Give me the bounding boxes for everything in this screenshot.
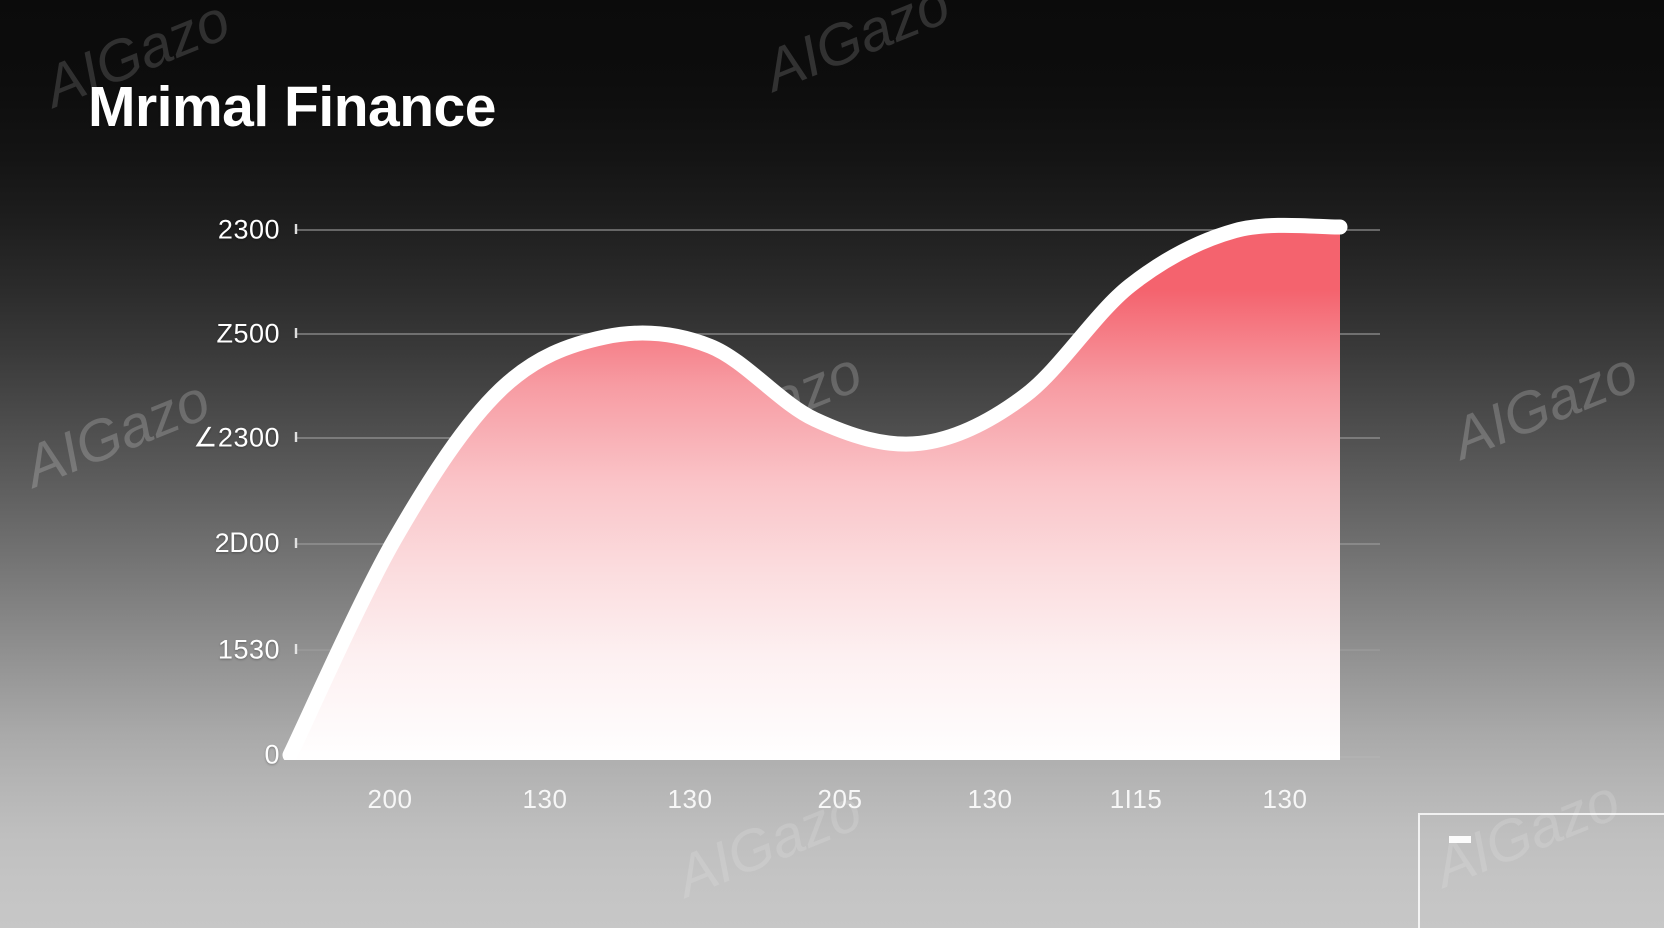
legend-box[interactable] (1418, 813, 1664, 928)
chart-screenshot: AIGazoAIGazoAIGazoAIGazo (0, 0, 1664, 928)
dash-marker-icon (1449, 836, 1471, 843)
area-chart (0, 0, 1664, 928)
area-fill (290, 225, 1340, 763)
page-title: Mrimal Finance (88, 76, 496, 139)
